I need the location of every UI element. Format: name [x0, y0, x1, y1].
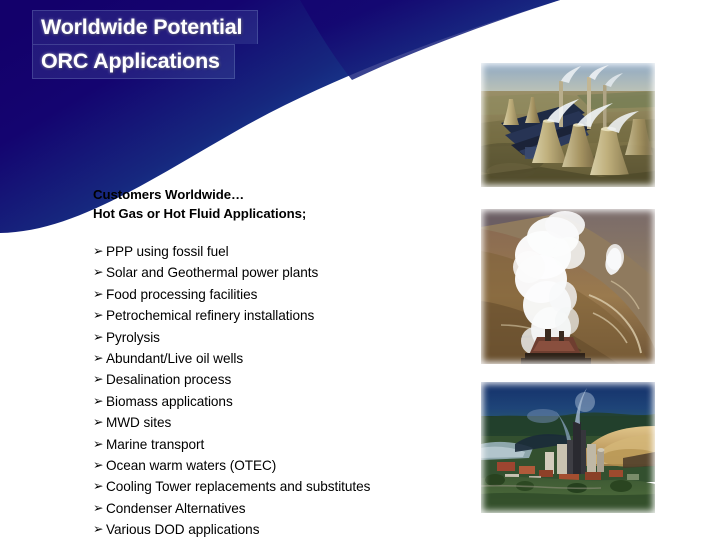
photo-biomass	[481, 382, 655, 513]
list-item-label: Solar and Geothermal power plants	[106, 265, 318, 280]
list-item-label: Ocean warm waters (OTEC)	[106, 458, 276, 473]
list-item-label: MWD sites	[106, 415, 171, 430]
list-item-label: Pyrolysis	[106, 330, 160, 345]
title-line-1: Worldwide Potential	[32, 10, 258, 44]
list-item-label: Cooling Tower replacements and substitut…	[106, 479, 370, 494]
lead-line-2: Hot Gas or Hot Fluid Applications;	[93, 205, 463, 224]
list-item-label: Biomass applications	[106, 394, 233, 409]
list-item-label: Desalination process	[106, 372, 231, 387]
list-item: ➢Petrochemical refinery installations	[93, 305, 463, 326]
list-item-label: Various DOD applications	[106, 522, 259, 537]
arrow-bullet-icon: ➢	[93, 241, 103, 262]
power-plant-illustration	[481, 63, 655, 187]
photo-geothermal	[481, 209, 655, 364]
page-title: Worldwide Potential ORC Applications	[32, 10, 258, 79]
arrow-bullet-icon: ➢	[93, 434, 103, 455]
list-item: ➢Solar and Geothermal power plants	[93, 262, 463, 283]
list-item: ➢Abundant/Live oil wells	[93, 348, 463, 369]
list-item: ➢Cooling Tower replacements and substitu…	[93, 476, 463, 497]
arrow-bullet-icon: ➢	[93, 519, 103, 540]
list-item-label: Abundant/Live oil wells	[106, 351, 243, 366]
arrow-bullet-icon: ➢	[93, 284, 103, 305]
slide-canvas: Worldwide Potential ORC Applications Cus…	[0, 0, 720, 540]
arrow-bullet-icon: ➢	[93, 455, 103, 476]
list-item-label: Condenser Alternatives	[106, 501, 245, 516]
applications-bullet-list: ➢PPP using fossil fuel➢Solar and Geother…	[93, 241, 463, 540]
lead-line-1: Customers Worldwide…	[93, 186, 463, 205]
list-item: ➢Various DOD applications	[93, 519, 463, 540]
list-item: ➢Food processing facilities	[93, 284, 463, 305]
arrow-bullet-icon: ➢	[93, 348, 103, 369]
arrow-bullet-icon: ➢	[93, 391, 103, 412]
geothermal-illustration	[481, 209, 655, 364]
arrow-bullet-icon: ➢	[93, 262, 103, 283]
title-line-2: ORC Applications	[32, 44, 235, 79]
list-item: ➢MWD sites	[93, 412, 463, 433]
list-item-label: Petrochemical refinery installations	[106, 308, 314, 323]
biomass-plant-illustration	[481, 382, 655, 513]
list-item: ➢Desalination process	[93, 369, 463, 390]
list-item: ➢Condenser Alternatives	[93, 498, 463, 519]
arrow-bullet-icon: ➢	[93, 476, 103, 497]
body-content: Customers Worldwide… Hot Gas or Hot Flui…	[93, 186, 463, 540]
list-item-label: Marine transport	[106, 437, 204, 452]
list-item: ➢Biomass applications	[93, 391, 463, 412]
list-item-label: PPP using fossil fuel	[106, 244, 229, 259]
list-item: ➢PPP using fossil fuel	[93, 241, 463, 262]
arrow-bullet-icon: ➢	[93, 327, 103, 348]
list-item: ➢Pyrolysis	[93, 327, 463, 348]
list-item-label: Food processing facilities	[106, 287, 257, 302]
arrow-bullet-icon: ➢	[93, 305, 103, 326]
list-item: ➢Ocean warm waters (OTEC)	[93, 455, 463, 476]
arrow-bullet-icon: ➢	[93, 498, 103, 519]
arrow-bullet-icon: ➢	[93, 412, 103, 433]
arrow-bullet-icon: ➢	[93, 369, 103, 390]
photo-power-plant	[481, 63, 655, 187]
list-item: ➢Marine transport	[93, 434, 463, 455]
